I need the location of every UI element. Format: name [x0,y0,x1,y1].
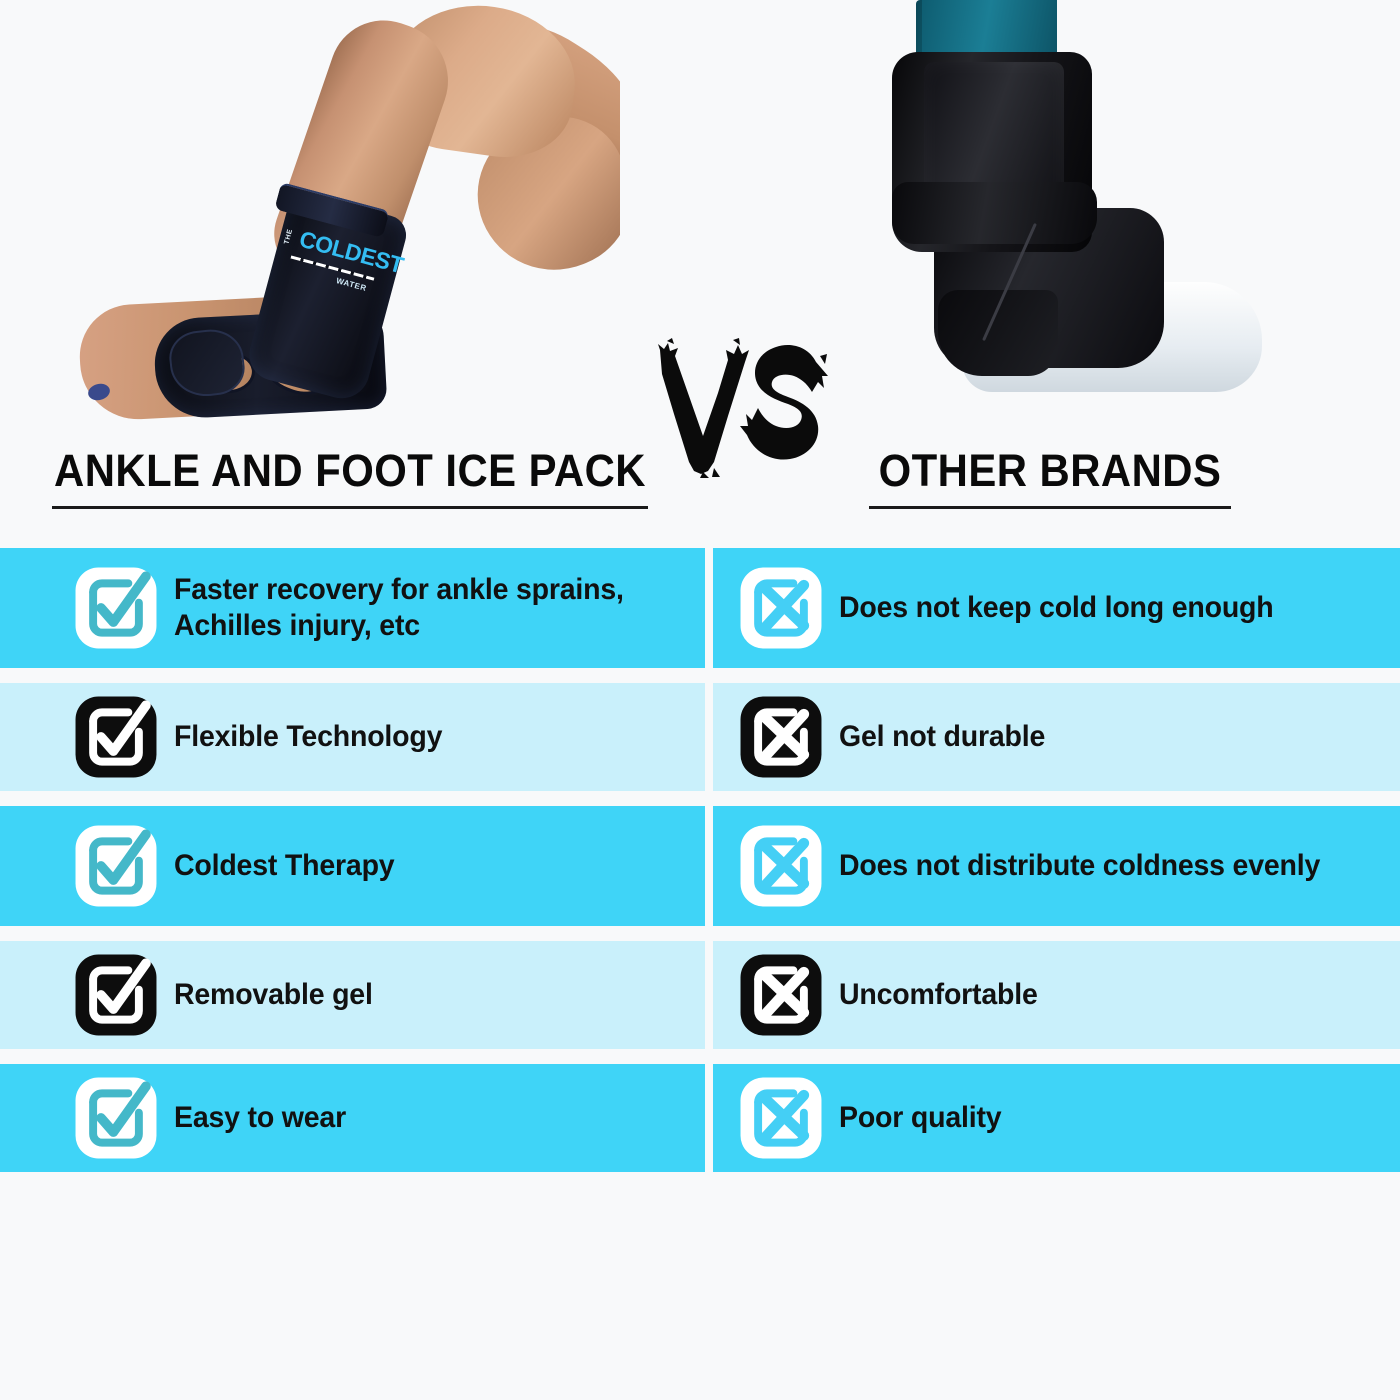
left-column-title: ANKLE AND FOOT ICE PACK [25,446,676,496]
coldest-feature-cell: Removable gel [0,941,705,1049]
product-photo-coldest: THE COLDEST WATER [60,0,620,440]
other-brand-feature-cell: Uncomfortable [713,941,1400,1049]
comparison-row: Removable gel Uncomfortable [0,941,1400,1049]
other-brand-feature-cell: Poor quality [713,1064,1400,1172]
feature-label: Coldest Therapy [174,848,394,884]
column-gap [705,806,713,926]
other-brand-feature-cell: Does not keep cold long enough [713,548,1400,668]
left-header-underline [52,506,648,509]
other-brand-feature-cell: Does not distribute coldness evenly [713,806,1400,926]
comparison-row: Easy to wear Poor quality [0,1064,1400,1172]
other-brand-feature-cell: Gel not durable [713,683,1400,791]
coldest-feature-cell: Easy to wear [0,1064,705,1172]
hero-photo-area: THE COLDEST WATER [0,0,1400,440]
comparison-infographic: THE COLDEST WATER [0,0,1400,1400]
left-column-header: ANKLE AND FOOT ICE PACK [0,446,700,526]
check-icon-teal [72,1074,160,1162]
check-icon-teal [72,822,160,910]
check-icon-black [72,951,160,1039]
check-icon-black [72,693,160,781]
right-column-header: OTHER BRANDS [700,446,1400,526]
comparison-row: Coldest Therapy Does not distribute cold… [0,806,1400,926]
check-icon-teal [72,564,160,652]
feature-label: Does not keep cold long enough [839,590,1273,626]
comparison-table: Faster recovery for ankle sprains, Achil… [0,548,1400,1187]
feature-label: Flexible Technology [174,719,442,755]
product-photo-other-brand [880,0,1360,440]
coldest-feature-cell: Flexible Technology [0,683,705,791]
cross-icon-cyan [737,1074,825,1162]
other-wrap-cuff [892,182,1097,244]
feature-label: Does not distribute coldness evenly [839,848,1320,884]
feature-label: Faster recovery for ankle sprains, Achil… [174,572,665,644]
column-gap [705,548,713,668]
cross-icon-black [737,693,825,781]
cross-icon-black [737,951,825,1039]
column-gap [705,1064,713,1172]
feature-label: Poor quality [839,1100,1001,1136]
right-column-title: OTHER BRANDS [725,446,1376,496]
feature-label: Easy to wear [174,1100,346,1136]
comparison-row: Flexible Technology Gel not durable [0,683,1400,791]
feature-label: Removable gel [174,977,373,1013]
comparison-row: Faster recovery for ankle sprains, Achil… [0,548,1400,668]
cross-icon-cyan [737,564,825,652]
coldest-feature-cell: Coldest Therapy [0,806,705,926]
column-gap [705,941,713,1049]
column-gap [705,683,713,791]
right-header-underline [869,506,1231,509]
coldest-feature-cell: Faster recovery for ankle sprains, Achil… [0,548,705,668]
brand-water-text: WATER [335,277,367,293]
cross-icon-cyan [737,822,825,910]
feature-label: Gel not durable [839,719,1045,755]
feature-label: Uncomfortable [839,977,1038,1013]
